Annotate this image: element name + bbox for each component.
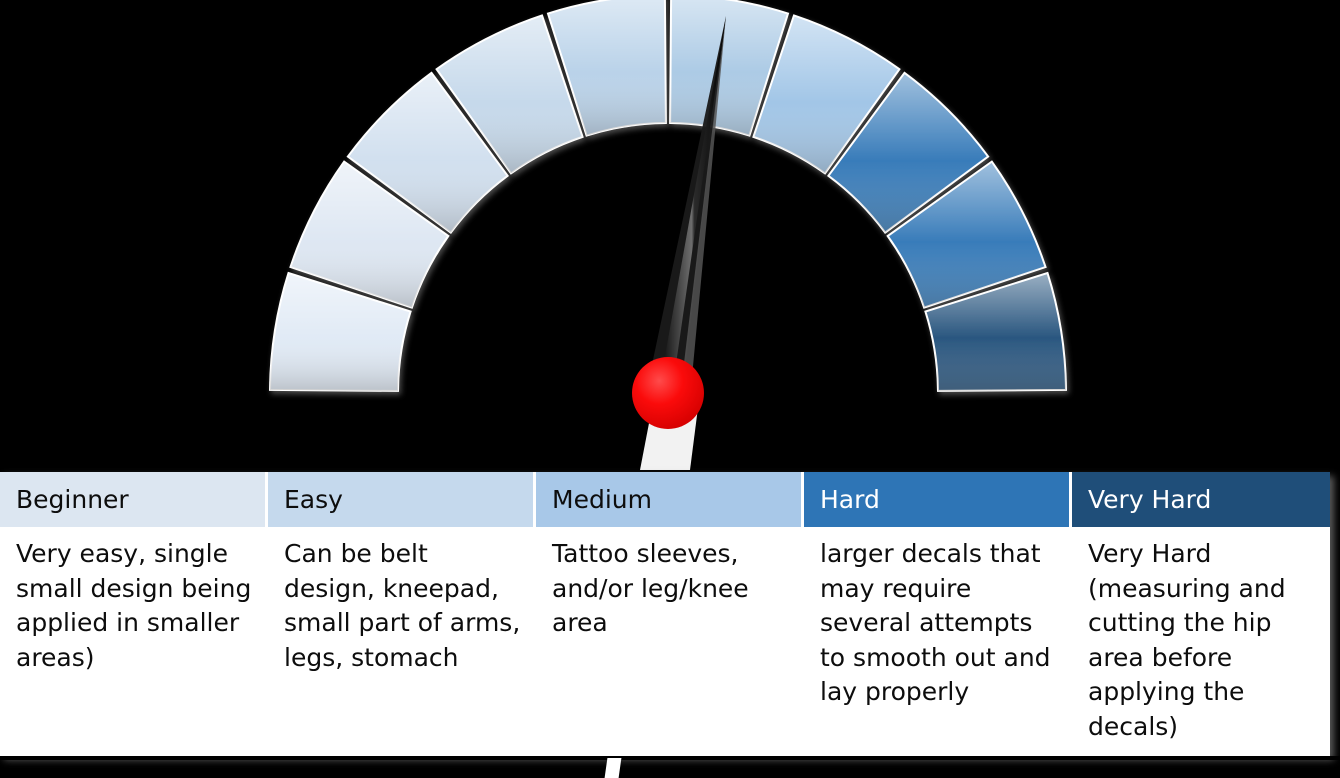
table-header-row: Beginner Easy Medium Hard Very Hard: [0, 472, 1330, 527]
difficulty-matrix-table: Beginner Easy Medium Hard Very Hard Very…: [0, 472, 1330, 756]
table-header-very-hard[interactable]: Very Hard: [1072, 472, 1330, 527]
gauge-svg: [0, 0, 1340, 470]
table-header-label: Very Hard: [1088, 485, 1211, 514]
table-header-label: Hard: [820, 485, 880, 514]
table-cell-medium: Tattoo sleeves, and/or leg/knee area: [536, 527, 804, 756]
slide-canvas: Beginner Easy Medium Hard Very Hard Very…: [0, 0, 1340, 778]
table-header-label: Beginner: [16, 485, 129, 514]
table-body-row: Very easy, single small design being app…: [0, 527, 1330, 756]
table-cell-very-hard: Very Hard (measuring and cutting the hip…: [1072, 527, 1330, 756]
slide-bottom-edge: [0, 756, 1340, 760]
table-cell-easy: Can be belt design, kneepad, small part …: [268, 527, 536, 756]
table-header-label: Medium: [552, 485, 652, 514]
table-cell-hard: larger decals that may require several a…: [804, 527, 1072, 756]
table-header-medium[interactable]: Medium: [536, 472, 804, 527]
gauge-container: [0, 0, 1340, 470]
table-header-hard[interactable]: Hard: [804, 472, 1072, 527]
table-header-beginner[interactable]: Beginner: [0, 472, 268, 527]
gauge-pivot-icon: [632, 357, 704, 429]
table-header-label: Easy: [284, 485, 343, 514]
table-cell-beginner: Very easy, single small design being app…: [0, 527, 268, 756]
table-header-easy[interactable]: Easy: [268, 472, 536, 527]
slide-bottom-notch: [605, 758, 622, 778]
